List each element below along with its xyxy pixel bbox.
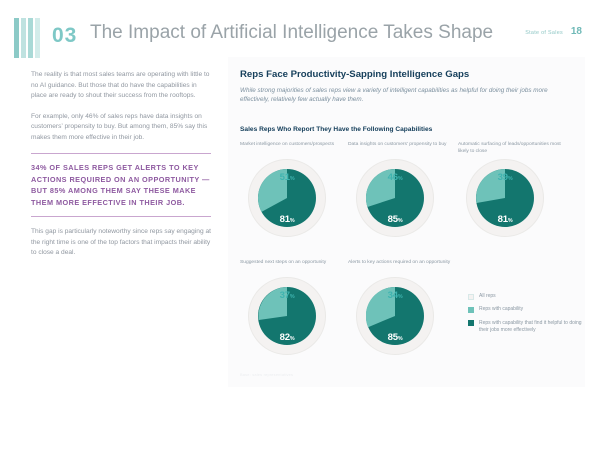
pie-value-unit: % (398, 336, 403, 342)
chart-group-heading: Sales Reps Who Report They Have the Foll… (240, 126, 432, 133)
pie-chart-graphic: 39% 81% (458, 159, 548, 249)
legend-swatch-all-reps (468, 294, 474, 300)
left-text-column: The reality is that most sales teams are… (31, 70, 211, 269)
pie-chart-item: Data insights on customers’ propensity t… (348, 141, 456, 249)
legend-swatch-helpful (468, 320, 474, 326)
pull-quote-text: 34% OF SALES REPS GET ALERTS TO KEY ACTI… (31, 162, 211, 208)
body-paragraph-1: The reality is that most sales teams are… (31, 70, 211, 102)
pie-value-with-capability: 39% (458, 172, 552, 183)
pie-chart-label: Alerts to key actions required on an opp… (348, 259, 456, 275)
pie-value-unit: % (508, 218, 513, 224)
pie-chart-label: Suggested next steps on an opportunity (240, 259, 348, 275)
pie-value-with-capability: 37% (240, 290, 334, 301)
pie-chart-label: Automatic surfacing of leads/opportuniti… (458, 141, 566, 157)
legend-label: Reps with capability (479, 306, 523, 313)
pie-value-number: 81 (280, 214, 290, 225)
chart-panel-subtitle: While strong majorities of sales reps vi… (240, 86, 562, 105)
pie-value-unit: % (290, 336, 295, 342)
pie-value-unit: % (508, 176, 513, 182)
legend-item: Reps with capability that find it helpfu… (468, 320, 583, 335)
legend-item: All reps (468, 293, 583, 300)
section-number: 03 (52, 24, 77, 48)
pie-chart-row-1: Market intelligence on customers/prospec… (240, 141, 580, 259)
pie-chart-item: Market intelligence on customers/prospec… (240, 141, 348, 249)
pie-value-unit: % (290, 294, 295, 300)
pie-value-with-capability: 46% (348, 172, 442, 183)
legend-label: All reps (479, 293, 496, 300)
pie-value-with-capability: 34% (348, 290, 442, 301)
source-note: Base: sales representatives (240, 372, 293, 377)
pie-value-number: 46 (388, 172, 398, 183)
brand-label: State of Sales (525, 30, 563, 36)
pie-value-helpful: 81% (458, 214, 552, 225)
chart-legend: All reps Reps with capability Reps with … (468, 293, 583, 341)
body-paragraph-3: This gap is particularly noteworthy sinc… (31, 227, 211, 259)
slide-header: 03 The Impact of Artificial Intelligence… (0, 18, 600, 58)
pie-value-number: 39 (498, 172, 508, 183)
pie-value-number: 85 (388, 214, 398, 225)
legend-label: Reps with capability that find it helpfu… (479, 320, 583, 335)
legend-swatch-with-capability (468, 307, 474, 313)
pie-value-number: 51 (280, 172, 290, 183)
pie-chart-grid: Market intelligence on customers/prospec… (240, 141, 580, 377)
legend-item: Reps with capability (468, 306, 583, 313)
pie-chart-item: Suggested next steps on an opportunity 3… (240, 259, 348, 367)
pie-value-number: 34 (388, 290, 398, 301)
pie-value-unit: % (398, 218, 403, 224)
pie-chart-label: Market intelligence on customers/prospec… (240, 141, 348, 157)
header-accent-bars-icon (14, 18, 40, 58)
pie-value-unit: % (398, 176, 403, 182)
chart-panel-title: Reps Face Productivity-Sapping Intellige… (240, 69, 469, 80)
pie-value-number: 37 (280, 290, 290, 301)
pie-value-unit: % (290, 176, 295, 182)
pie-value-helpful: 82% (240, 332, 334, 343)
pie-value-helpful: 81% (240, 214, 334, 225)
pie-chart-graphic: 37% 82% (240, 277, 330, 367)
pie-chart-graphic: 34% 85% (348, 277, 438, 367)
pie-chart-graphic: 46% 85% (348, 159, 438, 249)
pie-value-with-capability: 51% (240, 172, 334, 183)
pie-value-number: 82 (280, 332, 290, 343)
page-number: 18 (571, 26, 582, 37)
pie-value-number: 85 (388, 332, 398, 343)
pie-chart-label: Data insights on customers’ propensity t… (348, 141, 456, 157)
slide-page: 03 The Impact of Artificial Intelligence… (0, 0, 600, 450)
chart-panel: Reps Face Productivity-Sapping Intellige… (228, 57, 585, 387)
pie-value-number: 81 (498, 214, 508, 225)
page-title: The Impact of Artificial Intelligence Ta… (90, 22, 493, 44)
pie-value-unit: % (398, 294, 403, 300)
pie-chart-graphic: 51% 81% (240, 159, 330, 249)
body-paragraph-2: For example, only 46% of sales reps have… (31, 112, 211, 144)
pie-value-helpful: 85% (348, 214, 442, 225)
pie-chart-item: Automatic surfacing of leads/opportuniti… (458, 141, 566, 249)
pie-chart-item: Alerts to key actions required on an opp… (348, 259, 456, 367)
pie-value-helpful: 85% (348, 332, 442, 343)
pull-quote-callout: 34% OF SALES REPS GET ALERTS TO KEY ACTI… (31, 153, 211, 217)
pie-value-unit: % (290, 218, 295, 224)
